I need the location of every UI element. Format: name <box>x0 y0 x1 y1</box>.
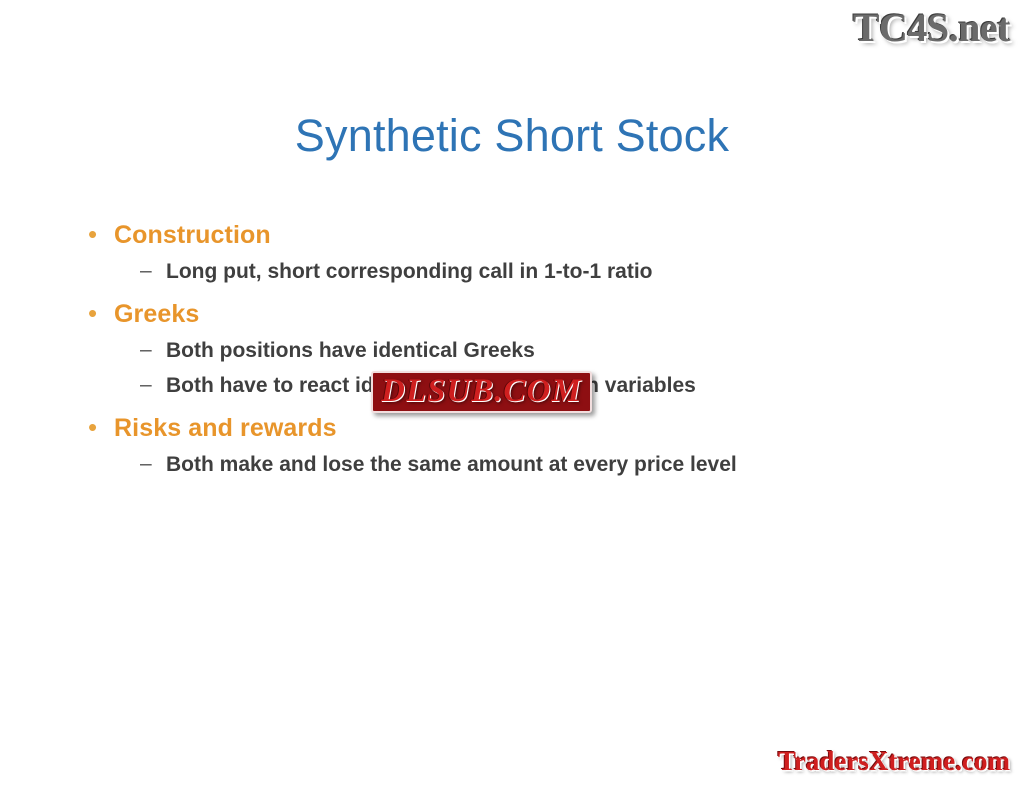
bullet-level2-label: Both make and lose the same amount at ev… <box>166 449 737 480</box>
dash-marker-icon: – <box>140 335 166 365</box>
bullet-level1-label: Risks and rewards <box>114 411 337 445</box>
watermark-bottom-right: TradersXtreme.com <box>778 746 1010 777</box>
bullet-level1-label: Greeks <box>114 297 199 331</box>
bullet-level2-item: – Both positions have identical Greeks <box>88 335 968 366</box>
bullet-dot-icon: • <box>88 297 114 329</box>
bullet-level1-greeks: • Greeks <box>88 297 968 331</box>
dash-marker-icon: – <box>140 449 166 479</box>
bullet-level1-risks: • Risks and rewards <box>88 411 968 445</box>
bullet-level1-construction: • Construction <box>88 218 968 252</box>
bullet-dot-icon: • <box>88 218 114 250</box>
bullet-level2-item: – Both make and lose the same amount at … <box>88 449 968 480</box>
slide-body: • Construction – Long put, short corresp… <box>88 218 968 490</box>
bullet-level2-label: Long put, short corresponding call in 1-… <box>166 256 653 287</box>
dash-marker-icon: – <box>140 370 166 400</box>
watermark-top-right: TC4S.net <box>853 4 1010 51</box>
dash-marker-icon: – <box>140 256 166 286</box>
bullet-level2-label: Both positions have identical Greeks <box>166 335 535 366</box>
bullet-level2-item: – Long put, short corresponding call in … <box>88 256 968 287</box>
watermark-center: DLSUB.COM <box>371 371 592 413</box>
bullet-group-risks: • Risks and rewards – Both make and lose… <box>88 411 968 480</box>
bullet-level1-label: Construction <box>114 218 271 252</box>
bullet-dot-icon: • <box>88 411 114 443</box>
page-title: Synthetic Short Stock <box>0 110 1024 162</box>
bullet-group-construction: • Construction – Long put, short corresp… <box>88 218 968 287</box>
